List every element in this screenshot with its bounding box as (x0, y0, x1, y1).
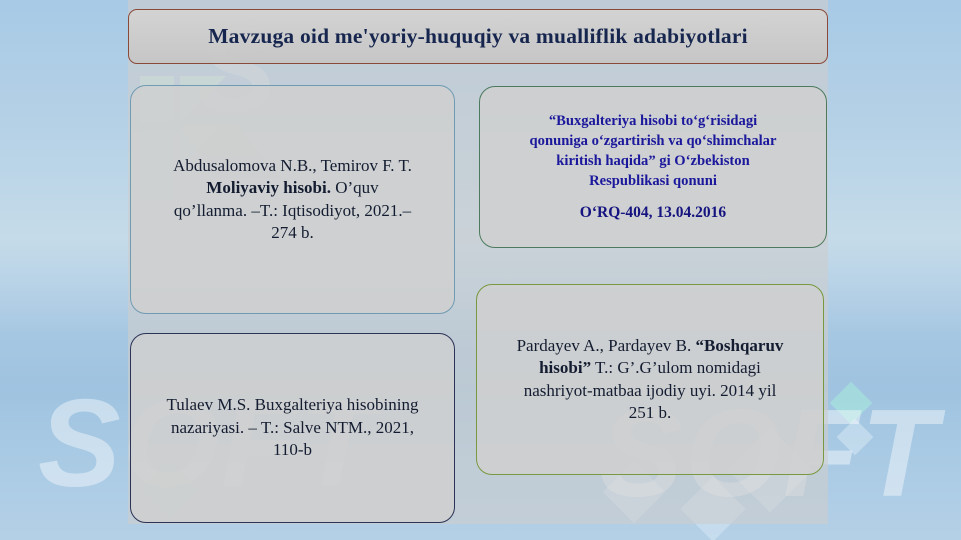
ref3-line3: nashriyot-matbaa ijodiy uyi. 2014 yil (524, 381, 777, 400)
watermark-diamond-3 (830, 382, 872, 424)
law-reference-card: “Buxgalteriya hisobi toʻgʻrisidagi qonun… (479, 86, 827, 248)
ref2-line2: nazariyasi. – T.: Salve NTM., 2021, (171, 418, 414, 437)
slide-canvas: S SOFT SOFT Mavzuga oid me'yoriy-huquqiy… (0, 0, 961, 540)
law-code: OʻRQ-404, 13.04.2016 (530, 202, 777, 223)
page-title: Mavzuga oid me'yoriy-huquqiy va muallifl… (208, 24, 748, 49)
law-line4: Respublikasi qonuni (589, 173, 717, 189)
ref3-line4: 251 b. (629, 403, 672, 422)
ref1-line4: 274 b. (271, 223, 314, 242)
ref3-line2: T.: G’.G’ulom nomidagi (591, 358, 761, 377)
reference-card-3: Pardayev A., Pardayev B. “Boshqaruv hiso… (476, 284, 824, 475)
law-line2: qonuniga oʻzgartirish va qoʻshimchalar (530, 133, 777, 149)
reference-card-2-text: Tulaev M.S. Buxgalteriya hisobining naza… (166, 394, 418, 461)
ref1-line2: O’quv (331, 178, 379, 197)
ref1-line3: qo’llanma. –T.: Iqtisodiyot, 2021.– (174, 201, 411, 220)
reference-card-1-text: Abdusalomova N.B., Temirov F. T. Moliyav… (173, 155, 412, 245)
ref2-line3: 110-b (273, 440, 312, 459)
reference-card-3-text: Pardayev A., Pardayev B. “Boshqaruv hiso… (493, 335, 807, 425)
ref1-bold-title: Moliyaviy hisobi. (206, 178, 331, 197)
law-reference-card-text: “Buxgalteriya hisobi toʻgʻrisidagi qonun… (530, 111, 777, 223)
watermark-diamond-4 (837, 419, 874, 456)
slide-title-box: Mavzuga oid me'yoriy-huquqiy va muallifl… (128, 9, 828, 64)
reference-card-1: Abdusalomova N.B., Temirov F. T. Moliyav… (130, 85, 455, 314)
ref3-line1: Pardayev A., Pardayev B. (517, 336, 696, 355)
ref1-line1: Abdusalomova N.B., Temirov F. T. (173, 156, 412, 175)
ref2-line1: Tulaev M.S. Buxgalteriya hisobining (166, 395, 418, 414)
law-line3: kiritish haqida” gi Oʻzbekiston (556, 153, 749, 169)
law-line1: “Buxgalteriya hisobi toʻgʻrisidagi (549, 113, 757, 129)
reference-card-2: Tulaev M.S. Buxgalteriya hisobining naza… (130, 333, 455, 523)
